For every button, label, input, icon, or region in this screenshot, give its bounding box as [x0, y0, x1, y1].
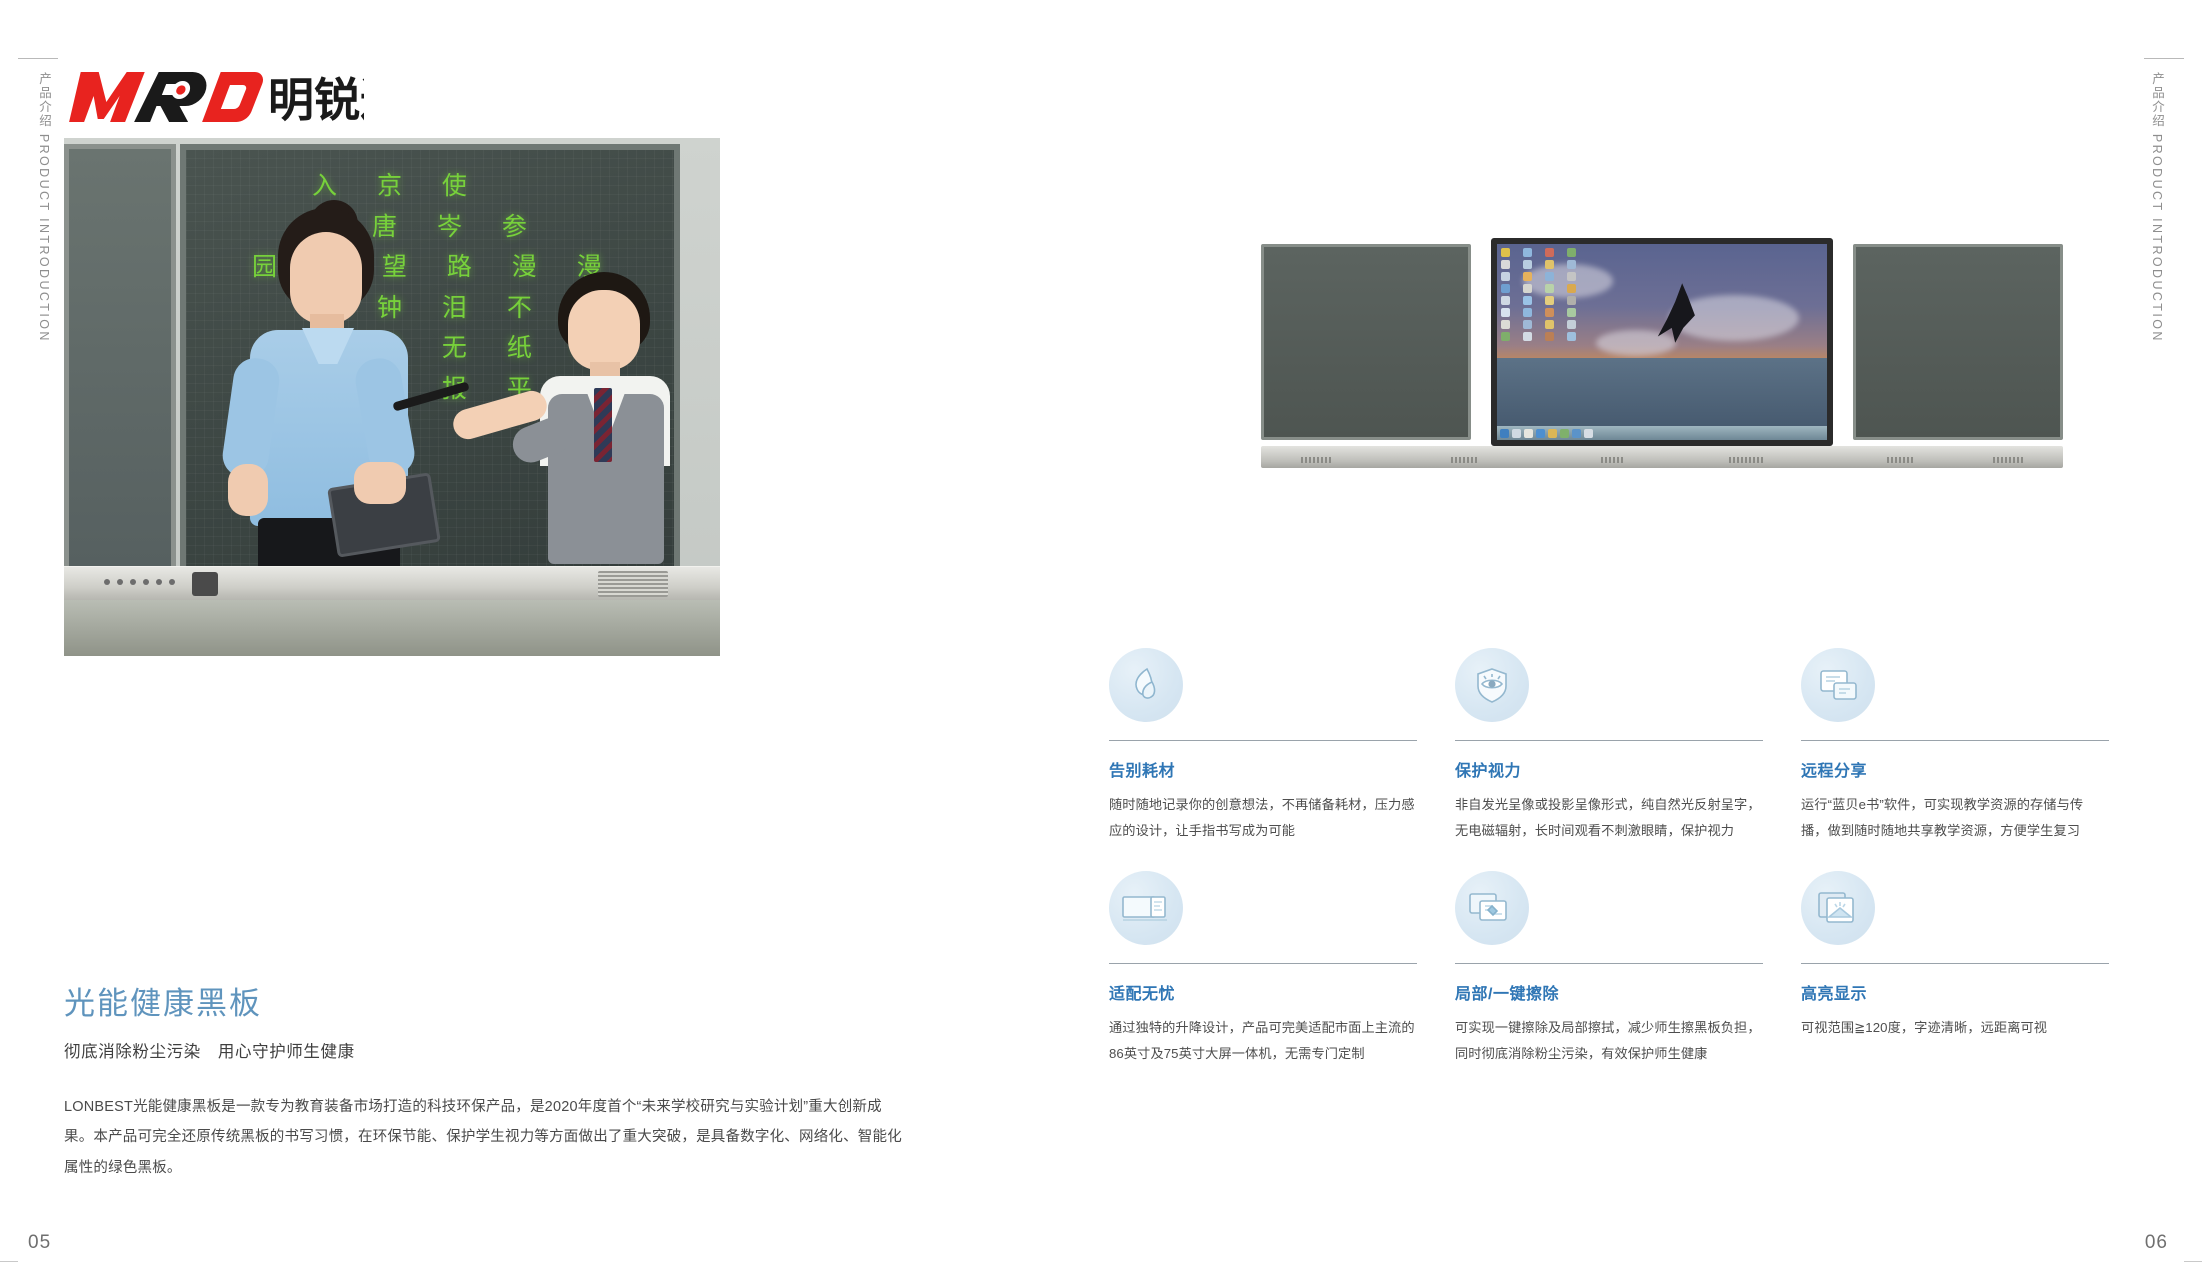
side-tab-label-en: PRODUCT INTRODUCTION	[37, 134, 51, 343]
brand-logo: 明锐达	[64, 66, 364, 128]
feature-title: 高亮显示	[1801, 980, 2109, 1004]
page-title: 光能健康黑板	[64, 978, 262, 1023]
feature-card: 适配无忧 通过独特的升降设计，产品可完美适配市面上主流的86英寸及75英寸大屏一…	[1109, 871, 1417, 1066]
page-number-rule-right	[2184, 1261, 2202, 1262]
feature-description: 可视范围≧120度，字迹清晰，远距离可视	[1801, 1015, 2109, 1041]
page-body-text: LONBEST光能健康黑板是一款专为教育装备市场打造的科技环保产品，是2020年…	[64, 1092, 904, 1183]
feature-description: 可实现一键擦除及局部擦拭，减少师生擦黑板负担，同时彻底消除粉尘污染，有效保护师生…	[1455, 1015, 1763, 1066]
feature-card: 高亮显示 可视范围≧120度，字迹清晰，远距离可视	[1801, 871, 2109, 1066]
feature-description: 随时随地记录你的创意想法，不再储备耗材，压力感应的设计，让手指书写成为可能	[1109, 792, 1417, 843]
side-tab-right: 产品介绍 PRODUCT INTRODUCTION	[2144, 58, 2190, 318]
feature-title: 远程分享	[1801, 757, 2109, 781]
side-tab-label-en: PRODUCT INTRODUCTION	[2150, 134, 2164, 343]
poem-line-1: 入 京 使	[252, 166, 672, 207]
feature-divider	[1801, 963, 2109, 964]
product-photo	[1261, 238, 2063, 468]
feature-grid: 告别耗材 随时随地记录你的创意想法，不再储备耗材，压力感应的设计，让手指书写成为…	[1109, 648, 2109, 1067]
page-subtitle: 彻底消除粉尘污染 用心守护师生健康	[64, 1038, 355, 1062]
taskbar[interactable]	[1497, 426, 1827, 440]
feature-card: 保护视力 非自发光呈像或投影呈像形式，纯自然光反射呈字，无电磁辐射，长时间观看不…	[1455, 648, 1763, 843]
feature-divider	[1455, 740, 1763, 741]
brochure-spread: 产品介绍 PRODUCT INTRODUCTION 明锐达	[0, 0, 2202, 1280]
side-tab-text: 产品介绍 PRODUCT INTRODUCTION	[35, 72, 54, 343]
feature-divider	[1109, 963, 1417, 964]
sliding-board-icon	[1109, 871, 1183, 945]
leaf-icon	[1109, 648, 1183, 722]
feature-divider	[1455, 963, 1763, 964]
side-tab-label-cn: 产品介绍	[37, 72, 51, 128]
blackboard-wing-right	[1853, 244, 2063, 440]
feature-card: 告别耗材 随时随地记录你的创意想法，不再储备耗材，压力感应的设计，让手指书写成为…	[1109, 648, 1417, 843]
side-tab-rule	[18, 58, 58, 59]
feature-description: 运行“蓝贝e书”软件，可实现教学资源的存储与传播，做到随时随地共享教学资源，方便…	[1801, 792, 2109, 843]
shield-eye-icon	[1455, 648, 1529, 722]
feature-description: 通过独特的升降设计，产品可完美适配市面上主流的86英寸及75英寸大屏一体机，无需…	[1109, 1015, 1417, 1066]
chalk-tray	[64, 566, 720, 600]
page-number-rule-left	[0, 1261, 18, 1262]
left-page: 产品介绍 PRODUCT INTRODUCTION 明锐达	[0, 0, 1101, 1280]
product-base-rail	[1261, 446, 2063, 468]
page-number-right: 06	[2145, 1232, 2168, 1254]
feature-card: 局部/一键擦除 可实现一键擦除及局部擦拭，减少师生擦黑板负担，同时彻底消除粉尘污…	[1455, 871, 1763, 1066]
bright-display-icon	[1801, 871, 1875, 945]
body-paragraph: LONBEST光能健康黑板是一款专为教育装备市场打造的科技环保产品，是2020年…	[64, 1092, 904, 1183]
right-page: 产品介绍 PRODUCT INTRODUCTION	[1101, 0, 2202, 1280]
student-figure	[510, 272, 700, 602]
feature-divider	[1801, 740, 2109, 741]
thumbs-up-hand	[228, 464, 268, 516]
feature-title: 局部/一键擦除	[1455, 980, 1763, 1004]
side-tab-rule	[2144, 58, 2184, 59]
feature-title: 告别耗材	[1109, 757, 1417, 781]
display-panel	[1491, 238, 1833, 446]
blackboard-side-panel	[64, 144, 176, 574]
side-tab-text: 产品介绍 PRODUCT INTRODUCTION	[2148, 72, 2167, 343]
eraser-screens-icon	[1455, 871, 1529, 945]
feature-title: 保护视力	[1455, 757, 1763, 781]
feature-divider	[1109, 740, 1417, 741]
hero-photo: 入 京 使 唐 岑 参 园 东 望 路 漫 漫 龙 钟 泪 不 干 相 逢 无 …	[64, 138, 720, 656]
blackboard-wing-left	[1261, 244, 1471, 440]
feature-description: 非自发光呈像或投影呈像形式，纯自然光反射呈字，无电磁辐射，长时间观看不刺激眼睛，…	[1455, 792, 1763, 843]
feature-title: 适配无忧	[1109, 980, 1417, 1004]
page-number-left: 05	[28, 1232, 51, 1254]
side-tab-label-cn: 产品介绍	[2150, 72, 2164, 128]
feature-card: 远程分享 运行“蓝贝e书”软件，可实现教学资源的存储与传播，做到随时随地共享教学…	[1801, 648, 2109, 843]
side-tab-left: 产品介绍 PRODUCT INTRODUCTION	[12, 58, 58, 318]
logo-cn-text: 明锐达	[268, 73, 364, 127]
screen-share-icon	[1801, 648, 1875, 722]
desktop-icons[interactable]	[1501, 248, 1587, 341]
classroom-floor	[64, 600, 720, 656]
